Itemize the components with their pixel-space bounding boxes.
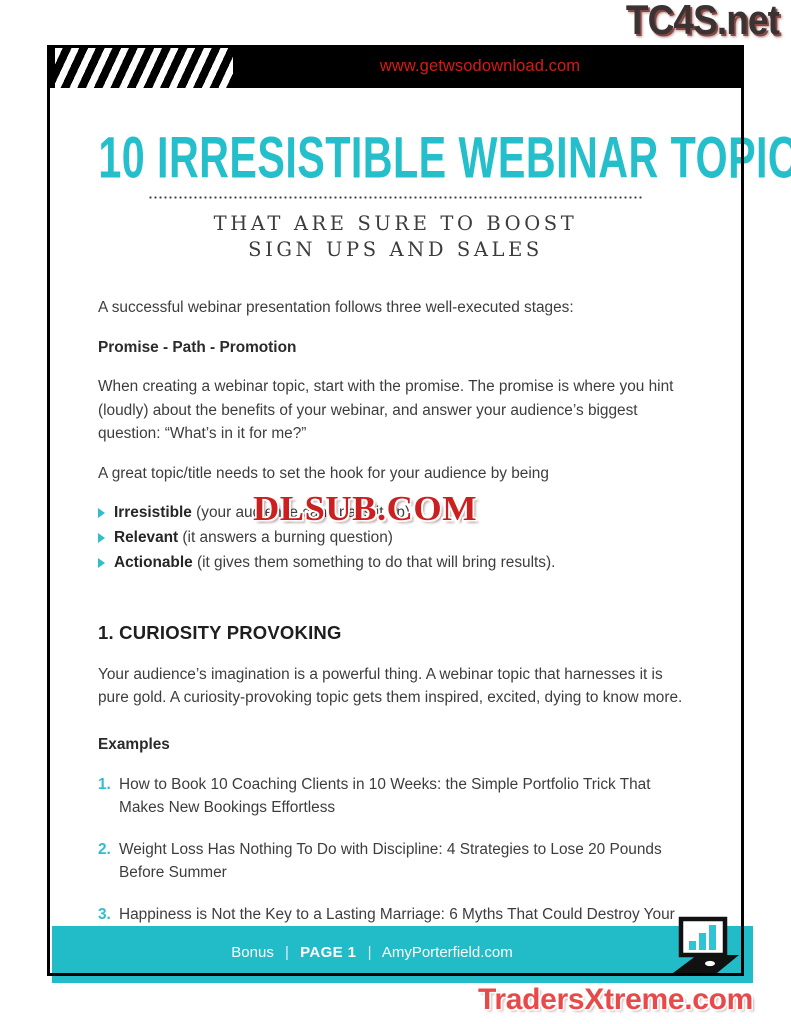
watermark-tc4s: TC4S.net — [626, 0, 779, 44]
watermark-dlsub: DLSUB.COM — [253, 489, 477, 529]
stages-line: Promise - Path - Promotion — [98, 336, 691, 359]
page-subtitle: THAT ARE SURE TO BOOST SIGN UPS AND SALE… — [50, 211, 741, 262]
item-text: How to Book 10 Coaching Clients in 10 We… — [119, 776, 651, 816]
watermark-tradersxtreme: TradersXtreme.com — [478, 983, 753, 1017]
page-title: 10 IRRESISTIBLE WEBINAR TOPICS — [98, 130, 692, 189]
banner-url-text: www.getwsodownload.com — [265, 57, 695, 76]
item-number: 1. — [98, 773, 111, 796]
list-item: Relevant (it answers a burning question) — [98, 526, 691, 550]
item-number: 3. — [98, 903, 111, 926]
item-number: 2. — [98, 838, 111, 861]
page-subtitle-line-1: THAT ARE SURE TO BOOST — [50, 211, 741, 237]
footer-bonus-label: Bonus — [231, 944, 274, 961]
section-heading: 1. CURIOSITY PROVOKING — [98, 619, 691, 647]
page-footer: Bonus | PAGE 1 | AmyPorterfield.com — [52, 926, 753, 983]
list-item: 1. How to Book 10 Coaching Clients in 10… — [98, 773, 691, 819]
section-paragraph: Your audience’s imagination is a powerfu… — [98, 663, 691, 710]
diagonal-stripes-decoration — [55, 48, 233, 88]
footer-page-label: PAGE 1 — [300, 944, 356, 961]
top-banner-bar: www.getwsodownload.com — [50, 48, 741, 88]
dotted-divider — [148, 196, 644, 199]
page-subtitle-line-2: SIGN UPS AND SALES — [50, 237, 741, 263]
list-item: Actionable (it gives them something to d… — [98, 551, 691, 575]
footer-text: Bonus | PAGE 1 | AmyPorterfield.com — [52, 944, 692, 961]
laptop-chart-icon — [667, 915, 743, 983]
hook-intro-paragraph: A great topic/title needs to set the hoo… — [98, 462, 691, 485]
footer-divider-2: | — [361, 944, 379, 961]
examples-heading: Examples — [98, 733, 691, 756]
intro-paragraph: A successful webinar presentation follow… — [98, 296, 691, 319]
triangle-bullet-icon — [98, 533, 105, 543]
footer-divider-1: | — [278, 944, 296, 961]
promise-paragraph: When creating a webinar topic, start wit… — [98, 375, 691, 445]
body-column: A successful webinar presentation follow… — [98, 296, 691, 949]
item-text: Weight Loss Has Nothing To Do with Disci… — [119, 841, 662, 881]
footer-site-label: AmyPorterfield.com — [382, 944, 513, 961]
triangle-bullet-icon — [98, 508, 105, 518]
hook-term: Irresistible — [114, 504, 192, 521]
hook-term: Relevant — [114, 529, 178, 546]
triangle-bullet-icon — [98, 558, 105, 568]
hook-term: Actionable — [114, 554, 193, 571]
list-item: 2. Weight Loss Has Nothing To Do with Di… — [98, 838, 691, 884]
examples-list: 1. How to Book 10 Coaching Clients in 10… — [98, 773, 691, 950]
hook-rest: (it answers a burning question) — [178, 529, 393, 546]
hook-rest: (it gives them something to do that will… — [193, 554, 556, 571]
